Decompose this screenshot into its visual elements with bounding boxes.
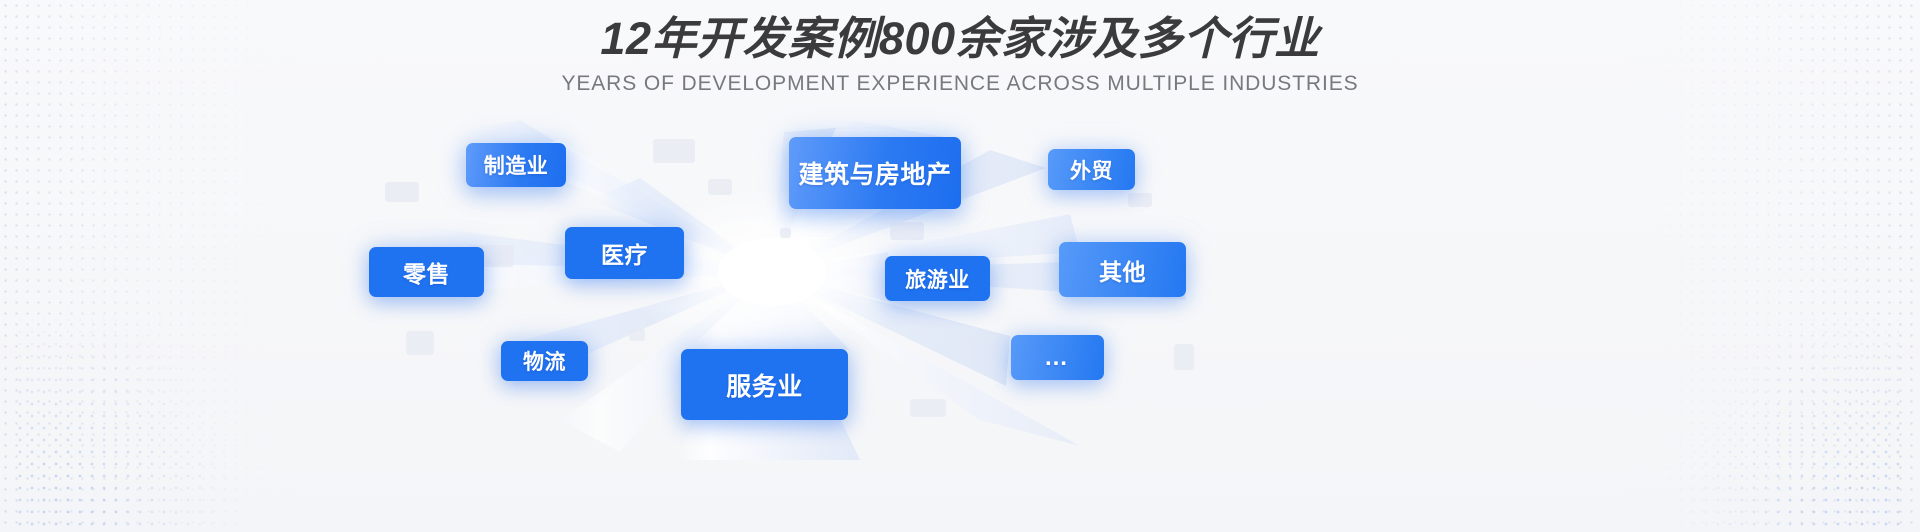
industry-tag-label: 旅游业 bbox=[905, 264, 970, 294]
ghost-block bbox=[1174, 344, 1194, 370]
ghost-block bbox=[1128, 193, 1152, 207]
industry-tag-retail[interactable]: 零售 bbox=[369, 247, 484, 297]
ghost-block bbox=[890, 222, 924, 240]
industry-tag-label: 制造业 bbox=[484, 150, 549, 180]
industry-tag-label: 零售 bbox=[403, 255, 450, 289]
ghost-block bbox=[629, 329, 645, 341]
industries-banner: 12年开发案例800余家涉及多个行业 YEARS OF DEVELOPMENT … bbox=[0, 0, 1920, 532]
industry-tag-label: 服务业 bbox=[726, 367, 803, 403]
industry-tag-label: 其他 bbox=[1099, 253, 1146, 287]
industry-tag-label: 外贸 bbox=[1070, 155, 1113, 185]
industry-tag-medical[interactable]: 医疗 bbox=[565, 227, 684, 279]
industry-tag-construction[interactable]: 建筑与房地产 bbox=[789, 137, 961, 209]
industry-tag-tourism[interactable]: 旅游业 bbox=[885, 256, 990, 301]
dot-pattern-bottom-left bbox=[14, 302, 244, 532]
page-subtitle: YEARS OF DEVELOPMENT EXPERIENCE ACROSS M… bbox=[0, 72, 1920, 96]
ghost-block bbox=[385, 182, 419, 202]
banner-heading-group: 12年开发案例800余家涉及多个行业 YEARS OF DEVELOPMENT … bbox=[0, 0, 1920, 96]
dot-pattern-bottom-right bbox=[1676, 302, 1906, 532]
industry-tag-foreign-trade[interactable]: 外贸 bbox=[1048, 149, 1135, 190]
ghost-block bbox=[708, 179, 732, 195]
page-title: 12年开发案例800余家涉及多个行业 bbox=[0, 12, 1920, 65]
industry-tag-other[interactable]: 其他 bbox=[1059, 242, 1186, 297]
industry-tag-logistics[interactable]: 物流 bbox=[501, 341, 588, 381]
ghost-block bbox=[910, 399, 946, 417]
ghost-block bbox=[780, 228, 791, 238]
industry-tag-label: 建筑与房地产 bbox=[798, 155, 951, 191]
industry-tag-label: 物流 bbox=[523, 346, 566, 376]
industry-tag-service[interactable]: 服务业 bbox=[681, 349, 848, 420]
industry-tag-label: 医疗 bbox=[601, 236, 648, 270]
ghost-block bbox=[653, 139, 695, 163]
ghost-block bbox=[406, 331, 434, 355]
industry-tag-manufacturing[interactable]: 制造业 bbox=[466, 143, 566, 187]
industry-tag-label: … bbox=[1044, 344, 1071, 372]
industry-tag-ellipsis[interactable]: … bbox=[1011, 335, 1104, 380]
